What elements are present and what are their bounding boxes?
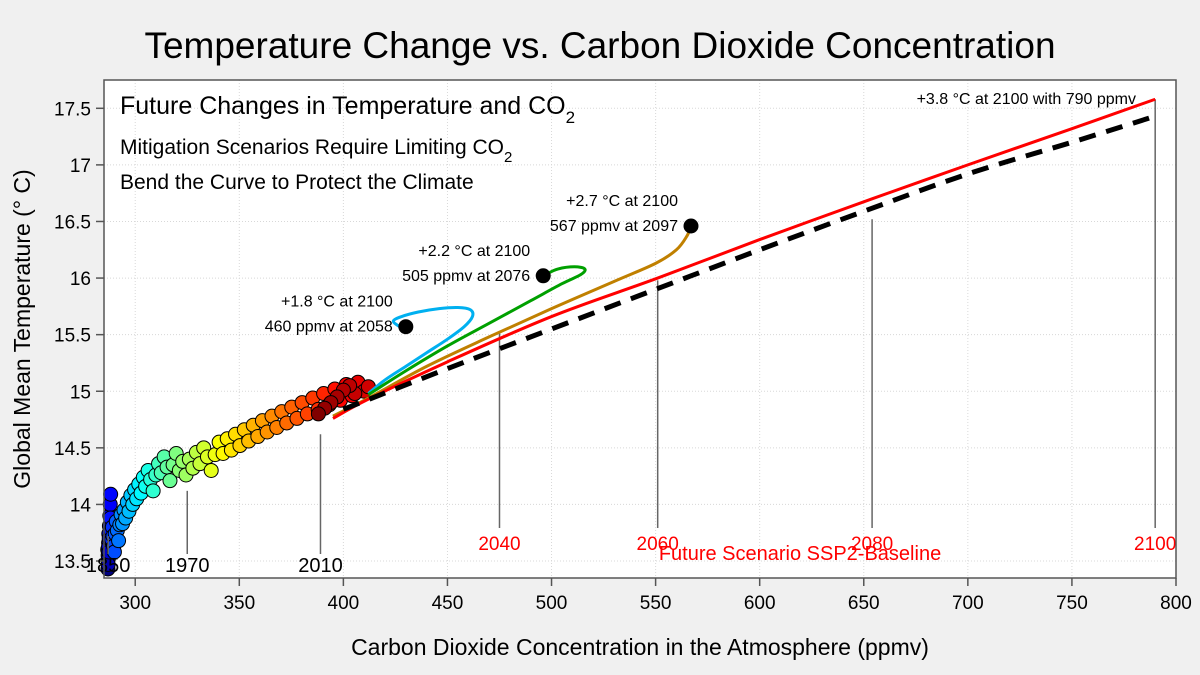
inplot-subline-2: Bend the Curve to Protect the Climate (120, 171, 474, 194)
annotation-dot (683, 219, 698, 234)
annotation-line-2: 567 ppmv at 2097 (550, 218, 678, 235)
annotation-line-1: +2.7 °C at 2100 (566, 193, 678, 210)
future-year-label: 2040 (478, 534, 520, 555)
scatter-point (112, 534, 126, 548)
annotation-line-2: 505 ppmv at 2076 (402, 268, 530, 285)
inplot-headline-text: Future Changes in Temperature and CO (120, 92, 566, 120)
y-tick-label: 16.5 (54, 212, 91, 233)
future-year-label: 2100 (1134, 534, 1176, 555)
y-tick-label: 14.5 (54, 439, 91, 460)
x-tick-label: 400 (328, 593, 360, 614)
x-tick-label: 650 (848, 593, 880, 614)
scatter-point (146, 484, 160, 498)
scatter-point (204, 463, 218, 477)
x-tick-label: 500 (536, 593, 568, 614)
baseline-annotation: +3.8 °C at 2100 with 790 ppmv (917, 91, 1136, 108)
x-tick-label: 300 (119, 593, 151, 614)
annotation-line-2: 460 ppmv at 2058 (265, 319, 393, 336)
inplot-subline-1-text: Mitigation Scenarios Require Limiting CO (120, 136, 504, 159)
y-tick-label: 17.5 (54, 99, 91, 120)
historical-year-label: 2010 (298, 555, 343, 577)
y-tick-label: 17 (70, 156, 91, 177)
page-title: Temperature Change vs. Carbon Dioxide Co… (144, 25, 1055, 66)
chart-figure: Temperature Change vs. Carbon Dioxide Co… (0, 0, 1200, 675)
x-tick-label: 750 (1056, 593, 1088, 614)
scenario-caption: Future Scenario SSP2-Baseline (659, 543, 941, 565)
annotation-dot (398, 319, 413, 334)
scatter-point (104, 487, 118, 501)
x-tick-label: 450 (432, 593, 464, 614)
scatter-point (311, 407, 325, 421)
x-axis-label: Carbon Dioxide Concentration in the Atmo… (351, 634, 929, 660)
annotation-line-1: +1.8 °C at 2100 (281, 294, 393, 311)
annotation-line-1: +2.2 °C at 2100 (418, 243, 530, 260)
x-tick-label: 800 (1160, 593, 1192, 614)
x-tick-label: 350 (223, 593, 255, 614)
annotation-dot (536, 268, 551, 283)
y-tick-label: 16 (70, 269, 91, 290)
chart-canvas: Temperature Change vs. Carbon Dioxide Co… (0, 0, 1200, 675)
x-tick-label: 600 (744, 593, 776, 614)
y-tick-label: 15.5 (54, 326, 91, 347)
y-tick-label: 15 (70, 382, 91, 403)
inplot-headline-subscript: 2 (566, 108, 575, 127)
y-tick-label: 14 (70, 495, 92, 516)
historical-year-label: 1850 (86, 555, 131, 577)
historical-year-label: 1970 (165, 555, 210, 577)
x-tick-label: 700 (952, 593, 984, 614)
y-axis-label: Global Mean Temperature (° C) (9, 169, 35, 488)
inplot-subline-1-subscript: 2 (504, 149, 512, 166)
x-tick-label: 550 (640, 593, 672, 614)
